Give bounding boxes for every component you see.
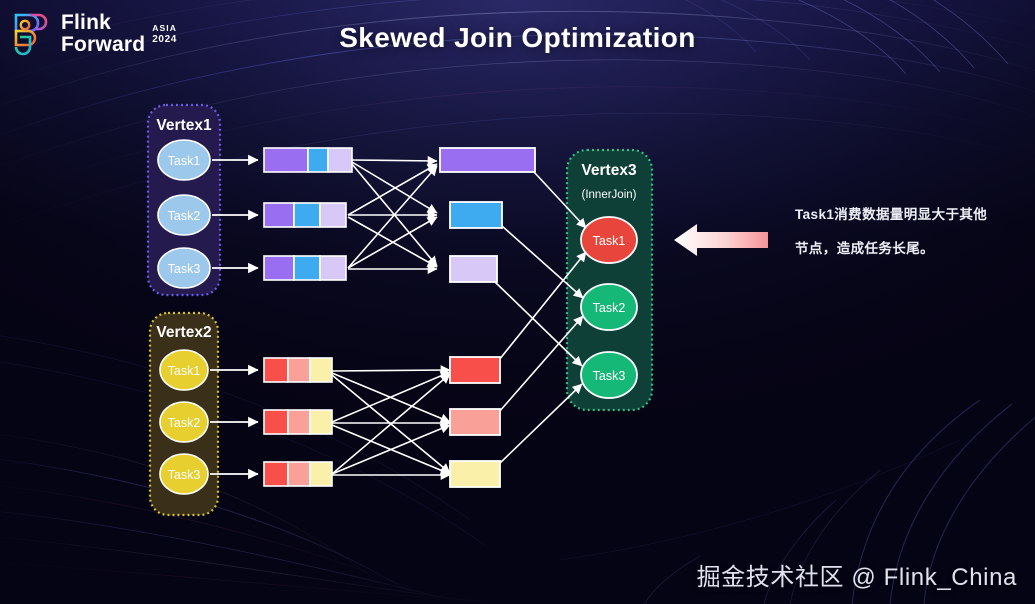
vertex1-task1-label: Task1	[168, 154, 201, 168]
merged-bar-v1-p3[interactable]	[450, 256, 497, 282]
merged-bar-v2-p3[interactable]	[450, 461, 500, 487]
producer-bar-v1-task1[interactable]	[264, 148, 352, 172]
merged-bars	[440, 148, 535, 487]
left-arrow-icon	[674, 224, 768, 256]
producer-bar-v2-task2[interactable]	[264, 410, 332, 434]
vertex1-label: Vertex1	[156, 117, 212, 134]
annotation-arrow	[674, 224, 768, 256]
vertex3-sublabel: (InnerJoin)	[582, 189, 637, 201]
skewed-join-diagram: Vertex1 Task1 Task2 Task3 Vertex2 Task1 …	[0, 0, 1035, 604]
watermark: 掘金技术社区 @ Flink_China	[697, 557, 1017, 592]
merged-bar-v2-p2[interactable]	[450, 409, 500, 435]
vertex2-task3-label: Task3	[168, 468, 201, 482]
edge-p3yellow-to-v3t3	[499, 384, 582, 464]
vertex1-shuffle-edges	[348, 160, 437, 269]
vertex2-task1-label: Task1	[168, 364, 201, 378]
vertex1-group[interactable]: Vertex1 Task1 Task2 Task3	[148, 105, 220, 295]
vertex3-label: Vertex3	[581, 162, 637, 179]
vertex1-producer-bars	[264, 148, 352, 280]
vertex1-task3-label: Task3	[168, 262, 201, 276]
producer-bar-v1-task3[interactable]	[264, 256, 346, 280]
vertex2-producer-bars	[264, 358, 332, 486]
merged-bar-v1-p2[interactable]	[450, 202, 502, 228]
vertex2-task2-label: Task2	[168, 416, 201, 430]
vertex1-task2-label: Task2	[168, 209, 201, 223]
vertex3-task3-label: Task3	[593, 369, 626, 383]
vertex2-label: Vertex2	[156, 324, 211, 341]
vertex2-shuffle-edges	[332, 370, 450, 475]
vertex3-group[interactable]: Vertex3 (InnerJoin) Task1 Task2 Task3	[567, 150, 652, 410]
merged-bar-v2-p1[interactable]	[450, 357, 500, 383]
vertex3-task1-label: Task1	[593, 234, 626, 248]
slide-canvas: Flink Forward ASIA 2024 Skewed Join Opti…	[0, 0, 1035, 604]
producer-bar-v2-task1[interactable]	[264, 358, 332, 382]
vertex3-task2-label: Task2	[593, 301, 626, 315]
vertex2-group[interactable]: Vertex2 Task1 Task2 Task3	[150, 313, 218, 515]
merged-bar-v1-p1-skewed[interactable]	[440, 148, 535, 172]
producer-bar-v2-task3[interactable]	[264, 462, 332, 486]
skew-annotation-text: Task1消费数据量明显大于其他节点，造成任务长尾。	[795, 198, 995, 266]
producer-bar-v1-task2[interactable]	[264, 203, 346, 227]
